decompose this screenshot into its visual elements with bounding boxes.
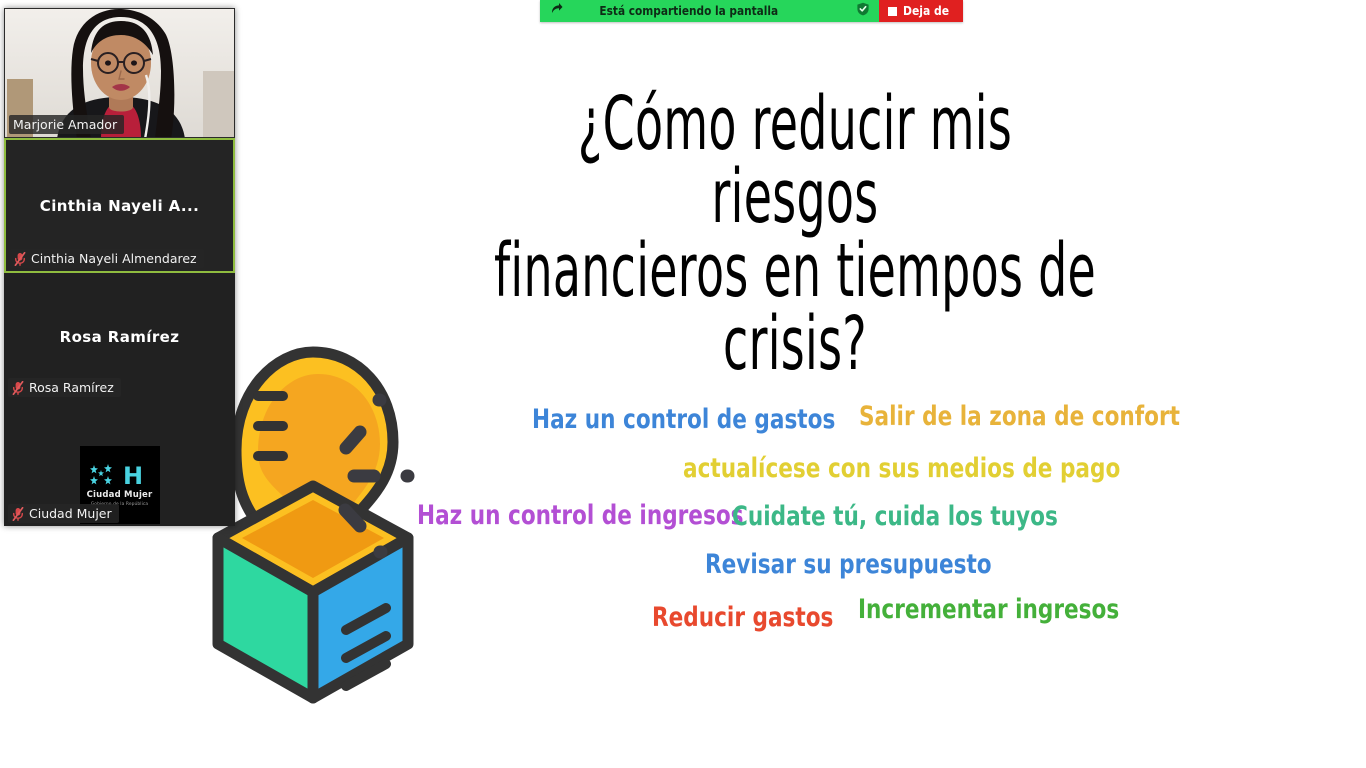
ciudad-mujer-logo-name: Ciudad Mujer	[87, 490, 153, 500]
mic-muted-icon	[12, 381, 24, 395]
participant-tile-marjorie[interactable]: Marjorie Amador	[4, 8, 235, 138]
keyword-reducir-gastos: Reducir gastos	[652, 602, 833, 633]
keyword-incrementar-ingresos: Incrementar ingresos	[858, 594, 1119, 625]
participant-name-text: Rosa Ramírez	[29, 380, 114, 395]
svg-text:H: H	[123, 463, 143, 487]
participant-tile-rosa[interactable]: Rosa Ramírez Rosa Ramírez	[4, 273, 235, 400]
participant-name-badge: Rosa Ramírez	[8, 378, 121, 397]
share-status-text: Está compartiendo la pantalla	[573, 4, 813, 18]
stop-share-label: Deja de	[903, 4, 949, 18]
screen-share-arrow-icon	[550, 2, 563, 20]
keyword-haz-control-gastos: Haz un control de gastos	[532, 404, 835, 435]
stop-square-icon	[888, 7, 897, 16]
participant-name-badge: Ciudad Mujer	[8, 504, 119, 523]
participant-name-badge: Cinthia Nayeli Almendarez	[10, 249, 204, 268]
participant-tile-ciudad-mujer[interactable]: H Ciudad Mujer Gobierno de la República …	[4, 400, 235, 526]
participant-name-badge: Marjorie Amador	[9, 115, 124, 134]
screen-share-toolbar: Está compartiendo la pantalla Deja de	[540, 0, 963, 22]
keyword-actualicese-medios-pago: actualícese con sus medios de pago	[683, 453, 1120, 484]
keyword-cuidate-tu: Cuidate tú, cuida los tuyos	[732, 501, 1058, 532]
participant-filmstrip: Marjorie Amador Cinthia Nayeli A... Cint…	[4, 8, 235, 526]
keyword-revisar-presupuesto: Revisar su presupuesto	[705, 549, 992, 580]
mic-muted-icon	[12, 507, 24, 521]
participant-name-text: Marjorie Amador	[13, 117, 117, 132]
participant-name-text: Ciudad Mujer	[29, 506, 112, 521]
participant-display-name: Cinthia Nayeli A...	[6, 197, 233, 215]
shield-check-icon[interactable]	[856, 2, 870, 21]
keyword-salir-zona-confort: Salir de la zona de confort	[859, 401, 1180, 432]
stop-share-button[interactable]: Deja de	[879, 0, 963, 22]
keyword-haz-control-ingresos: Haz un control de ingresos	[417, 500, 744, 531]
mic-muted-icon	[14, 252, 26, 266]
participant-name-text: Cinthia Nayeli Almendarez	[31, 251, 197, 266]
participant-display-name: Rosa Ramírez	[4, 328, 235, 346]
participant-tile-cinthia[interactable]: Cinthia Nayeli A... Cinthia Nayeli Almen…	[4, 138, 235, 273]
share-status-pill: Está compartiendo la pantalla	[540, 0, 879, 22]
slide-title: ¿Cómo reducir mis riesgos financieros en…	[488, 88, 1102, 381]
